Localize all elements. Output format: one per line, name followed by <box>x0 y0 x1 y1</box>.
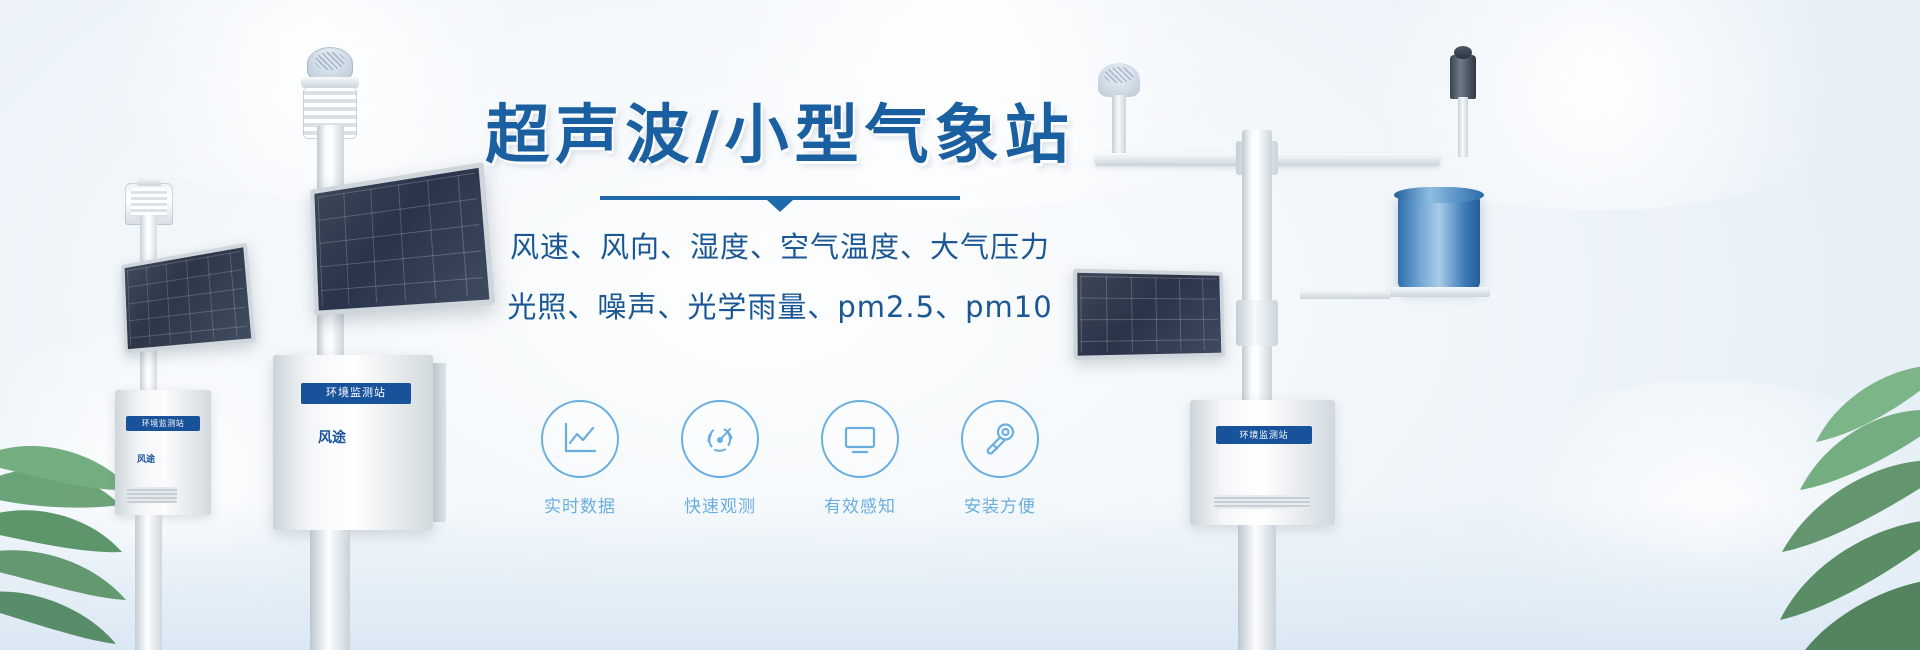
cabinet-side <box>433 363 446 522</box>
brand-logo: 风途 <box>137 452 155 465</box>
control-cabinet: 环境监测站 风途 <box>273 355 433 530</box>
feature-label: 有效感知 <box>800 492 920 517</box>
line-chart-icon <box>541 400 619 478</box>
cabinet-label: 环境监测站 <box>301 383 411 404</box>
control-cabinet: 环境监测站 <box>1190 400 1335 525</box>
mast-collar <box>1236 300 1278 346</box>
pole-base <box>1238 525 1276 650</box>
wrench-icon <box>961 400 1039 478</box>
gauge-brace <box>1300 291 1390 299</box>
cabinet-vent <box>127 487 177 503</box>
gauge-shelf <box>1385 287 1490 297</box>
product-banner: 环境监测站 风途 环境监测站 风途 环境监测站 <box>0 0 1920 650</box>
feature-item-effective-sensing[interactable]: 有效感知 <box>800 400 920 517</box>
ultrasonic-wind-sensor <box>1098 63 1140 97</box>
feature-list: 实时数据 快速观测 <box>520 400 1060 517</box>
pole-base <box>310 530 350 650</box>
brand-logo: 风途 <box>318 427 346 447</box>
radar-signal-icon <box>681 400 759 478</box>
sensor-stem <box>1458 97 1468 157</box>
feature-item-fast-observation[interactable]: 快速观测 <box>660 400 780 517</box>
cabinet-vent <box>1214 495 1310 509</box>
feature-label: 安装方便 <box>940 492 1060 517</box>
feature-item-realtime-data[interactable]: 实时数据 <box>520 400 640 517</box>
page-title: 超声波/小型气象站 <box>430 100 1130 174</box>
optical-rain-sensor <box>1450 55 1476 99</box>
feature-label: 实时数据 <box>520 492 640 517</box>
feature-item-easy-install[interactable]: 安装方便 <box>940 400 1060 517</box>
cabinet-label: 环境监测站 <box>1216 426 1312 444</box>
cabinet-label: 环境监测站 <box>126 416 200 431</box>
feature-label: 快速观测 <box>660 492 780 517</box>
pole-base <box>135 515 162 650</box>
subtitle-line-2: 光照、噪声、光学雨量、pm2.5、pm10 <box>430 284 1130 326</box>
ultrasonic-wind-sensor <box>307 47 353 81</box>
title-divider <box>600 196 960 200</box>
control-cabinet: 环境监测站 风途 <box>115 390 211 515</box>
banner-text-block: 超声波/小型气象站 风速、风向、湿度、空气温度、大气压力 光照、噪声、光学雨量、… <box>430 100 1130 326</box>
triangle-down-icon <box>767 200 793 212</box>
subtitle-line-1: 风速、风向、湿度、空气温度、大气压力 <box>430 224 1130 266</box>
monitor-icon <box>821 400 899 478</box>
rain-gauge <box>1398 195 1480 290</box>
